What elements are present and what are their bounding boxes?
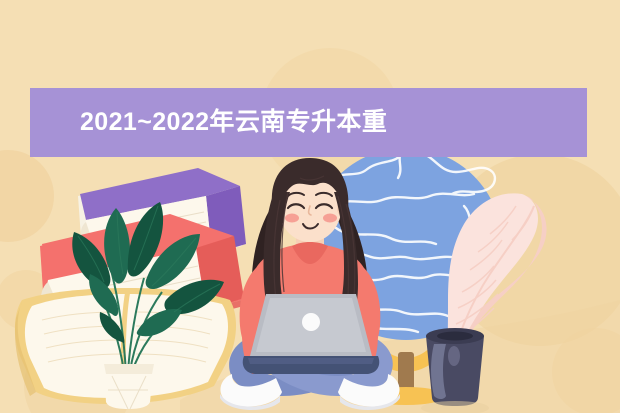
laptop-logo xyxy=(302,313,320,331)
article-banner: 2021~2022年云南专升本重 xyxy=(0,0,620,413)
laptop xyxy=(243,294,380,374)
cheek-left xyxy=(285,214,299,223)
cheek-right xyxy=(323,214,337,223)
student-figure xyxy=(0,0,620,413)
page-title: 2021~2022年云南专升本重 xyxy=(80,88,580,157)
